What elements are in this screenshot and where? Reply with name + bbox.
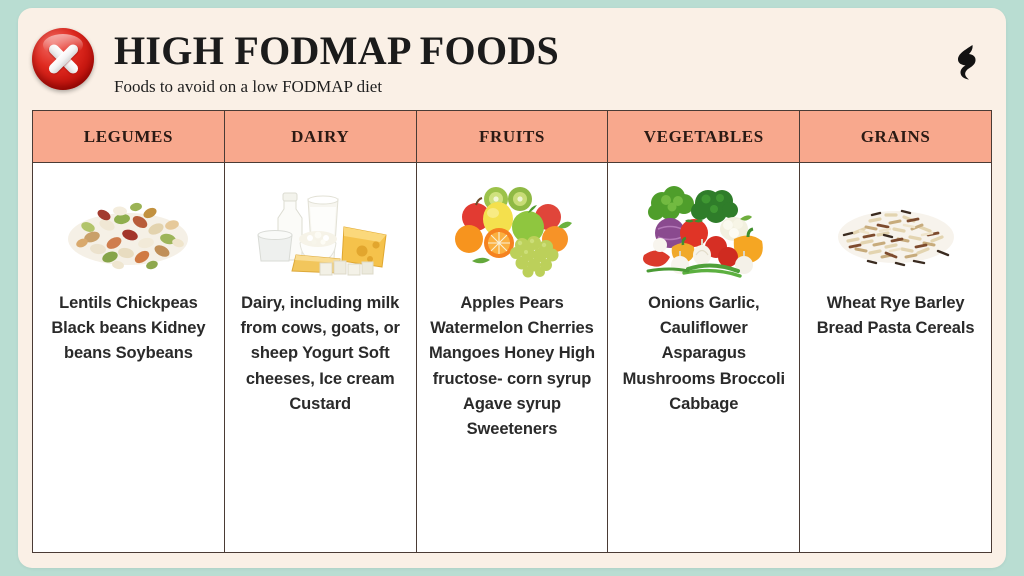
- column-header-fruits: FRUITS: [417, 111, 609, 162]
- food-list-legumes: Lentils Chickpeas Black beans Kidney bea…: [41, 291, 216, 367]
- mixed-beans-photo: [52, 177, 204, 281]
- table-cell-vegetables: Onions Garlic, Cauliflower Asparagus Mus…: [608, 163, 800, 552]
- food-list-grains: Wheat Rye Barley Bread Pasta Cereals: [808, 291, 983, 341]
- title-block: HIGH FODMAP FOODS Foods to avoid on a lo…: [114, 30, 559, 97]
- assorted-vegetables-photo: [628, 177, 780, 281]
- poster-card: HIGH FODMAP FOODS Foods to avoid on a lo…: [18, 8, 1006, 568]
- mixed-grains-photo: [820, 177, 972, 281]
- food-list-dairy: Dairy, including milk from cows, goats, …: [233, 291, 408, 417]
- page-title: HIGH FODMAP FOODS: [114, 30, 559, 72]
- column-header-vegetables: VEGETABLES: [608, 111, 800, 162]
- table-body-row: Lentils Chickpeas Black beans Kidney bea…: [33, 163, 991, 552]
- assorted-fruit-photo: [436, 177, 588, 281]
- table-cell-fruits: Apples Pears Watermelon Cherries Mangoes…: [417, 163, 609, 552]
- page-subtitle: Foods to avoid on a low FODMAP diet: [114, 77, 559, 97]
- food-list-fruits: Apples Pears Watermelon Cherries Mangoes…: [425, 291, 600, 442]
- flame-leaf-logo-icon: [952, 44, 982, 80]
- column-header-dairy: DAIRY: [225, 111, 417, 162]
- table-cell-dairy: Dairy, including milk from cows, goats, …: [225, 163, 417, 552]
- table-cell-legumes: Lentils Chickpeas Black beans Kidney bea…: [33, 163, 225, 552]
- red-x-circle-icon: [32, 28, 94, 90]
- table-header-row: LEGUMES DAIRY FRUITS VEGETABLES GRAINS: [33, 111, 991, 163]
- x-icon-gloss: [43, 34, 83, 56]
- column-header-grains: GRAINS: [800, 111, 991, 162]
- fodmap-table: LEGUMES DAIRY FRUITS VEGETABLES GRAINS: [32, 110, 992, 553]
- table-cell-grains: Wheat Rye Barley Bread Pasta Cereals: [800, 163, 991, 552]
- milk-cheese-photo: [244, 177, 396, 281]
- column-header-legumes: LEGUMES: [33, 111, 225, 162]
- poster-header: HIGH FODMAP FOODS Foods to avoid on a lo…: [18, 8, 1006, 108]
- food-list-vegetables: Onions Garlic, Cauliflower Asparagus Mus…: [616, 291, 791, 417]
